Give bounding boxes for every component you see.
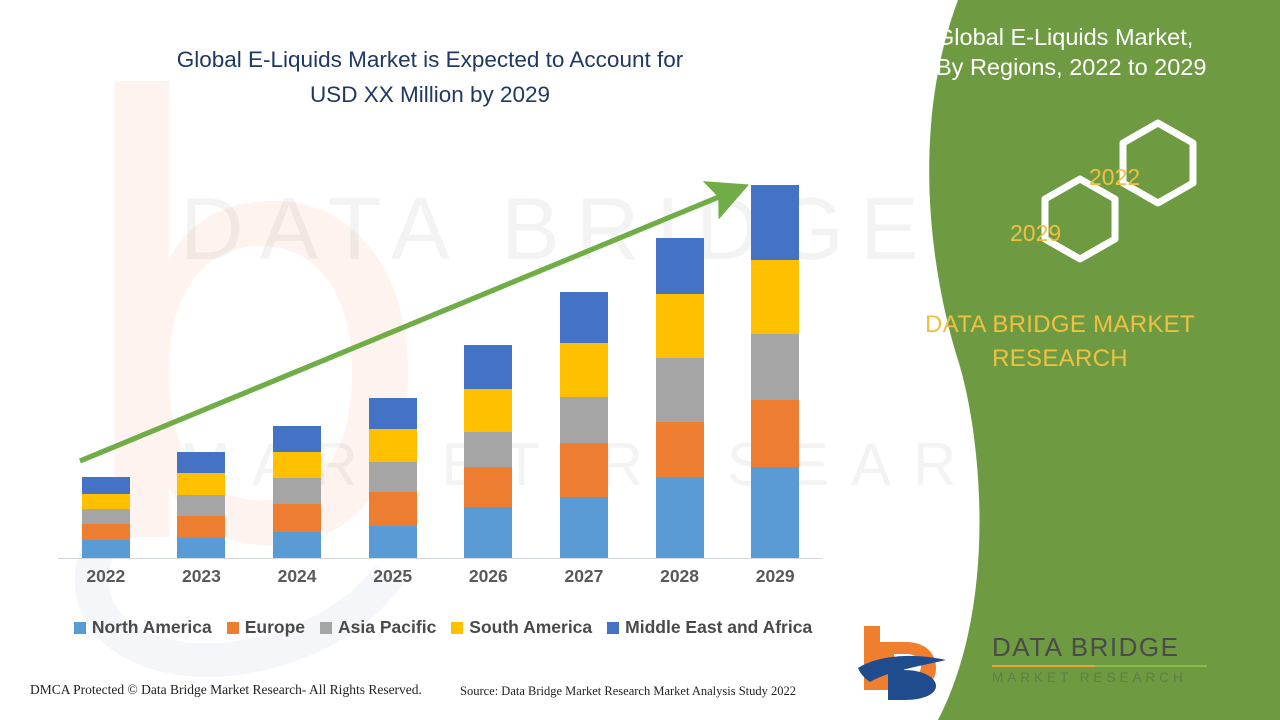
right-green-panel: Global E-Liquids Market, By Regions, 202… [840,0,1280,720]
bar-group [441,170,536,558]
legend-swatch [227,622,239,634]
bar-segment [751,185,799,260]
stacked-bar [82,477,130,558]
hexagon-shape-2029 [1045,179,1115,259]
bar-segment [751,260,799,334]
panel-brand-line1: DATA BRIDGE MARKET [925,311,1195,338]
bar-segment [560,497,608,558]
footer-source: Source: Data Bridge Market Research Mark… [460,684,796,699]
bar-segment [273,504,321,532]
bar-segment [369,492,417,526]
bar-segment [560,443,608,497]
x-axis-label: 2022 [58,566,153,587]
hexagon-badges: 2022 2029 [840,0,1280,300]
bar-segment [369,526,417,558]
bar-segment [82,494,130,509]
bar-segment [369,429,417,462]
bar-segment [82,509,130,524]
bar-segment [560,397,608,443]
bar-segment [560,343,608,397]
stacked-bar [273,426,321,558]
chart-bars-container [58,170,823,558]
x-axis-label: 2024 [250,566,345,587]
footer-copyright: DMCA Protected © Data Bridge Market Rese… [30,682,422,698]
bar-segment [177,473,225,495]
logo-subtitle: MARKET RESEARCH [992,670,1262,685]
panel-brand-line2: RESEARCH [880,342,1240,376]
bar-segment [369,398,417,429]
logo-mark-icon [850,620,980,702]
stacked-bar [369,398,417,558]
legend-label: South America [469,617,592,638]
bar-segment [751,334,799,400]
stacked-bar [656,238,704,558]
data-bridge-logo: DATA BRIDGE MARKET RESEARCH [850,620,1270,710]
bar-segment [82,524,130,540]
hexagon-shape-2022 [1123,123,1193,203]
legend-swatch [74,622,86,634]
bar-segment [177,495,225,516]
legend-swatch [451,622,463,634]
bar-segment [464,432,512,467]
logo-title: DATA BRIDGE [992,632,1262,663]
hexagon-outlines [840,0,1280,300]
bar-group [250,170,345,558]
bar-segment [273,426,321,452]
bar-segment [82,477,130,494]
bar-segment [273,478,321,504]
bar-segment [656,358,704,422]
bar-segment [464,345,512,389]
legend-label: Europe [245,617,305,638]
panel-brand-name: DATA BRIDGE MARKET RESEARCH [880,308,1240,376]
bar-segment [82,540,130,558]
legend-item[interactable]: North America [74,617,212,638]
x-axis-label: 2029 [728,566,823,587]
bar-segment [464,389,512,432]
legend-label: Asia Pacific [338,617,436,638]
legend-item[interactable]: Asia Pacific [320,617,436,638]
legend-swatch [320,622,332,634]
bar-segment [177,538,225,558]
legend-item[interactable]: South America [451,617,592,638]
chart-legend: North AmericaEuropeAsia PacificSouth Ame… [58,617,828,638]
x-axis-label: 2028 [632,566,727,587]
logo-divider [992,665,1207,667]
bar-segment [560,292,608,343]
legend-label: North America [92,617,212,638]
bar-segment [464,467,512,507]
legend-label: Middle East and Africa [625,617,812,638]
bar-group [58,170,153,558]
bar-group [536,170,631,558]
x-axis-label: 2026 [441,566,536,587]
bar-segment [273,452,321,478]
bar-segment [464,507,512,558]
bar-segment [656,294,704,358]
hexagon-label-2029: 2029 [1010,220,1061,247]
bar-segment [751,400,799,467]
bar-group [345,170,440,558]
legend-item[interactable]: Europe [227,617,305,638]
stacked-bar [751,185,799,558]
bar-group [632,170,727,558]
chart-x-axis-line [58,558,823,559]
infographic-canvas: b DATA BRIDGE MARKET RESEARCH Global E-L… [0,0,1280,720]
stacked-bar-chart: 20222023202420252026202720282029 North A… [0,0,860,600]
x-axis-label: 2023 [154,566,249,587]
hexagon-label-2022: 2022 [1089,164,1140,191]
legend-item[interactable]: Middle East and Africa [607,617,812,638]
stacked-bar [560,292,608,558]
bar-segment [177,516,225,538]
bar-segment [177,452,225,473]
x-axis-label: 2027 [536,566,631,587]
bar-segment [656,238,704,294]
bar-segment [656,422,704,477]
chart-x-axis-labels: 20222023202420252026202720282029 [58,566,823,587]
stacked-bar [177,452,225,558]
bar-segment [751,467,799,558]
bar-group [154,170,249,558]
green-panel-content: Global E-Liquids Market, By Regions, 202… [840,0,1280,720]
bar-segment [369,462,417,492]
logo-wordmark: DATA BRIDGE MARKET RESEARCH [992,632,1262,685]
bar-segment [273,532,321,558]
legend-swatch [607,622,619,634]
bar-segment [656,477,704,558]
stacked-bar [464,345,512,558]
x-axis-label: 2025 [345,566,440,587]
bar-group [728,170,823,558]
